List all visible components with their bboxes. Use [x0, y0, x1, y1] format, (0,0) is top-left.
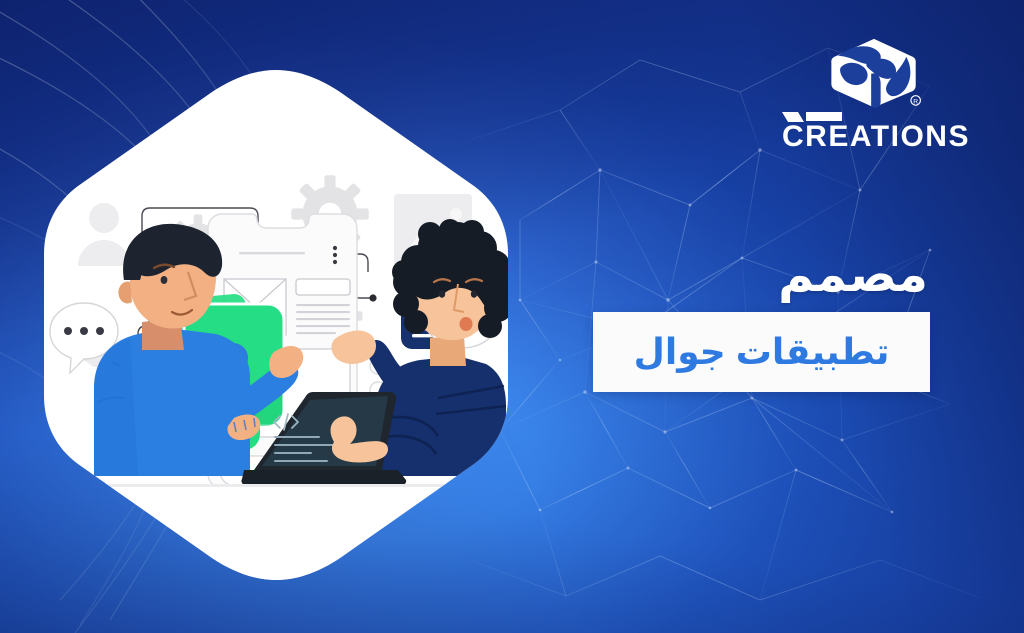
poster-canvas: R CREATIONS مصمم تطبيقات جوال: [0, 0, 1024, 633]
cube-logo: R: [822, 36, 926, 108]
phone-overflow-dots: [333, 246, 337, 264]
subtitle-text: تطبيقات جوال: [634, 330, 890, 374]
desk-surface: [38, 484, 514, 487]
subtitle-panel: تطبيقات جوال: [593, 312, 930, 392]
brand-logo-block: R CREATIONS: [782, 36, 982, 156]
headline-title: مصمم: [560, 246, 928, 308]
illustration-card: [38, 66, 514, 584]
svg-text:R: R: [913, 98, 918, 105]
phone-button-placeholder: [296, 279, 350, 295]
wordmark-text: CREATIONS: [782, 120, 970, 153]
right-content-column: R CREATIONS مصمم تطبيقات جوال: [560, 0, 1024, 633]
brand-wordmark: CREATIONS: [782, 110, 982, 154]
